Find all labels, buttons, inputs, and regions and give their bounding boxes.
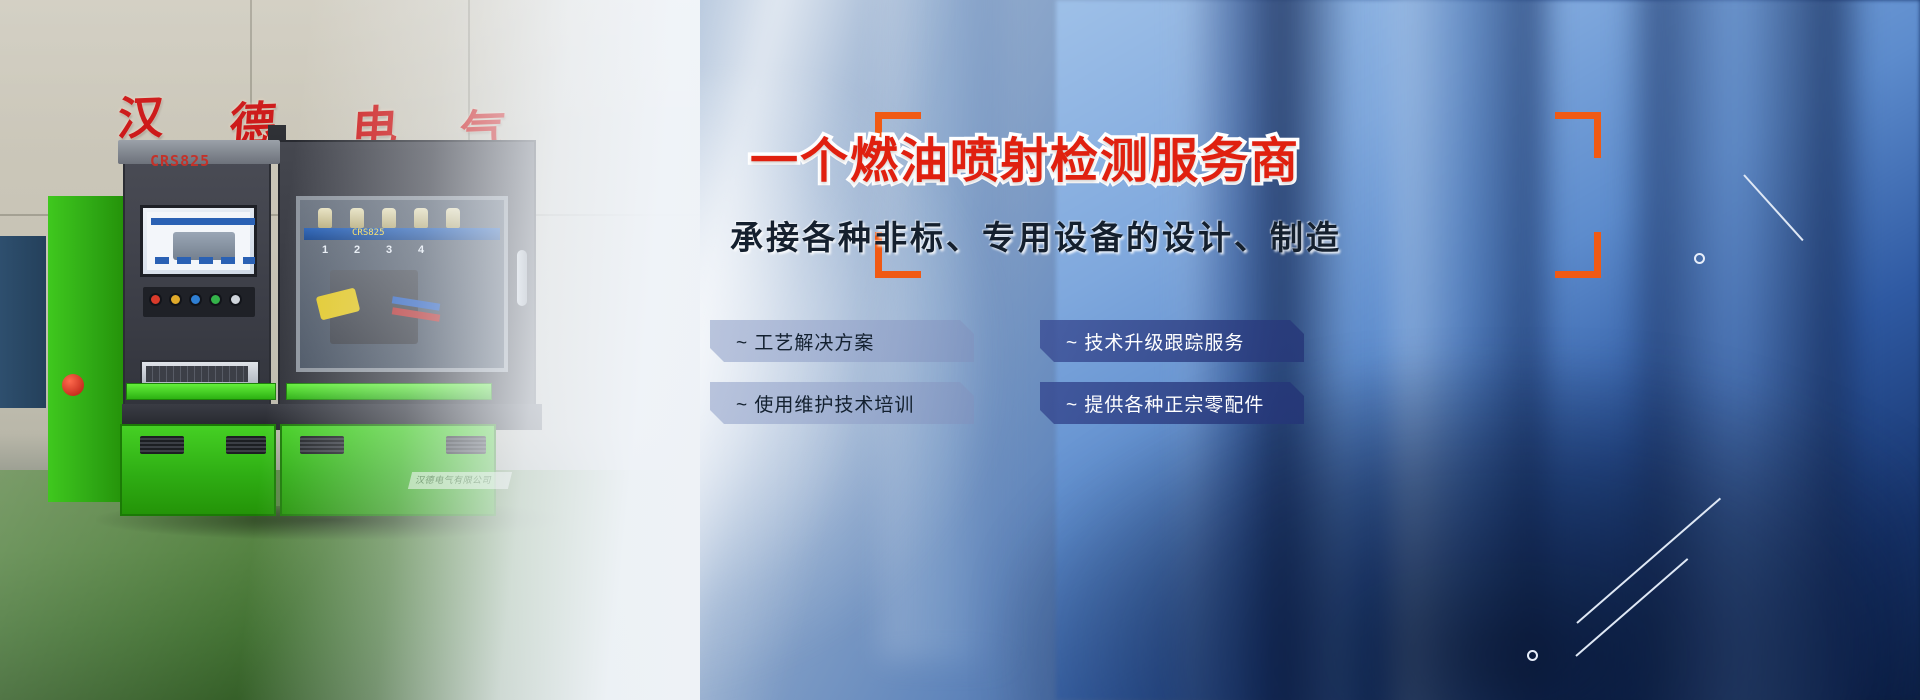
green-accent-strip-left — [126, 383, 276, 400]
banner-copy: 一个燃油喷射检测服务商 承接各种非标、专用设备的设计、制造 ~ 工艺解决方案 ~… — [700, 0, 1700, 700]
feature-tag-label: ~ 提供各种正宗零配件 — [1066, 390, 1264, 417]
cabinet-vent-3 — [300, 436, 344, 454]
machine-display — [140, 205, 257, 277]
feature-tag-label: ~ 工艺解决方案 — [736, 328, 874, 355]
product-photo: 汉 德 电 气 CRS825 1 2 3 4 CRS825 — [0, 0, 700, 700]
panel-button-red — [149, 293, 162, 306]
injector-4 — [414, 208, 428, 228]
cabinet-vent-1 — [140, 436, 184, 454]
rail-label: CRS825 — [352, 228, 385, 238]
circle-outline-icon-top — [1694, 253, 1705, 264]
injector-number-2: 2 — [354, 244, 360, 256]
cabinet-vent-2 — [226, 436, 266, 454]
feature-tag-process-solution[interactable]: ~ 工艺解决方案 — [710, 320, 974, 362]
display-graphic — [173, 232, 235, 260]
feature-tag-label: ~ 技术升级跟踪服务 — [1066, 328, 1244, 355]
injector-number-1: 1 — [322, 244, 328, 256]
machine-button-panel — [143, 287, 255, 317]
display-surface — [147, 212, 250, 270]
feature-tag-upgrade-service[interactable]: ~ 技术升级跟踪服务 — [1040, 320, 1304, 362]
page-title: 一个燃油喷射检测服务商 — [750, 134, 1370, 189]
display-titlebar — [151, 218, 255, 225]
injector-3 — [382, 208, 396, 228]
feature-tag-genuine-parts[interactable]: ~ 提供各种正宗零配件 — [1040, 382, 1304, 424]
wall-character-1: 汉 — [116, 81, 167, 149]
injector-number-4: 4 — [418, 244, 424, 256]
panel-button-amber — [169, 293, 182, 306]
panel-button-white — [229, 293, 242, 306]
hero-banner: 汉 德 电 气 CRS825 1 2 3 4 CRS825 — [0, 0, 1920, 700]
panel-button-green — [209, 293, 222, 306]
corner-bracket-icon-bottom-right — [1555, 232, 1601, 278]
machine-green-side-panel — [48, 196, 126, 502]
injector-5 — [446, 208, 460, 228]
green-accent-strip-right — [286, 383, 492, 400]
page-subtitle: 承接各种非标、专用设备的设计、制造 — [730, 218, 1430, 258]
emergency-stop-icon — [62, 374, 84, 396]
injector-number-3: 3 — [386, 244, 392, 256]
circle-outline-icon-bottom — [1527, 650, 1538, 661]
injector-2 — [350, 208, 364, 228]
panel-button-blue — [189, 293, 202, 306]
background-crate — [0, 236, 46, 408]
machine-model-badge: CRS825 — [150, 152, 254, 174]
machine-brand-text: 汉德电气有限公司 — [414, 473, 513, 486]
display-buttons — [155, 257, 255, 264]
wall-fixture — [268, 125, 286, 141]
corner-bracket-icon-top-right — [1555, 112, 1601, 158]
feature-tag-training[interactable]: ~ 使用维护技术培训 — [710, 382, 974, 424]
injector-1 — [318, 208, 332, 228]
feature-tag-label: ~ 使用维护技术培训 — [736, 390, 914, 417]
machine-keyboard — [146, 366, 248, 382]
cabinet-vent-4 — [446, 436, 486, 454]
cabinet-door-handle — [517, 250, 527, 306]
machine-rail — [304, 228, 500, 240]
